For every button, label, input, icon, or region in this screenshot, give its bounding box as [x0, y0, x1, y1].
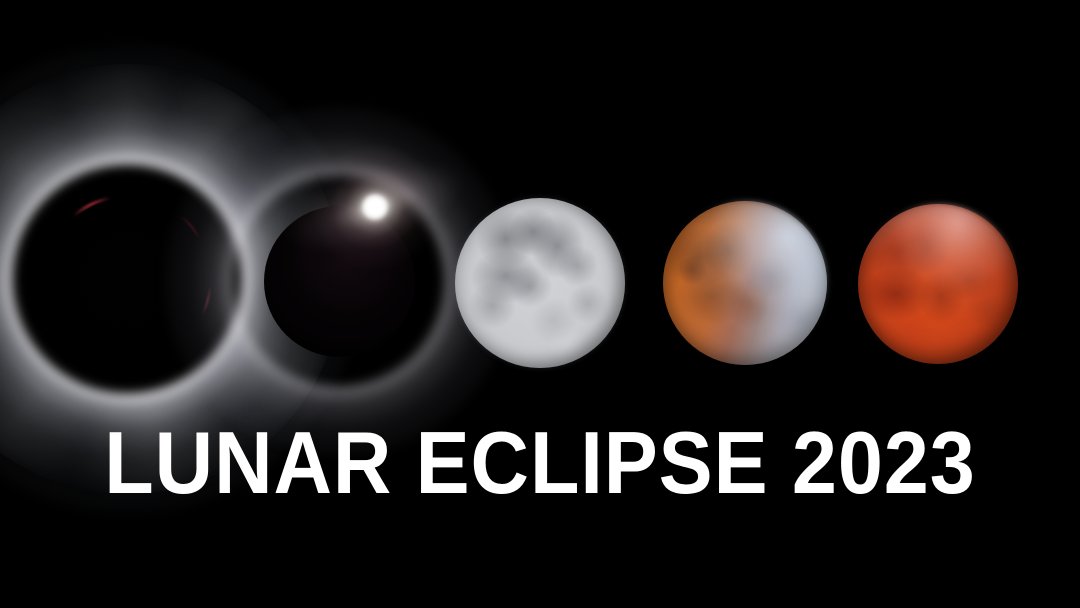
diamond-ring-core-icon [362, 194, 388, 220]
lunar-eclipse-poster: LUNAR ECLIPSE 2023 [0, 0, 1080, 608]
partial-eclipse-limb-shading [663, 201, 827, 365]
blood-moon-limb-shading [858, 204, 1018, 364]
page-title: LUNAR ECLIPSE 2023 [43, 418, 1037, 508]
eclipse-phase-sequence [0, 0, 1080, 430]
full-moon-disk [455, 198, 625, 368]
